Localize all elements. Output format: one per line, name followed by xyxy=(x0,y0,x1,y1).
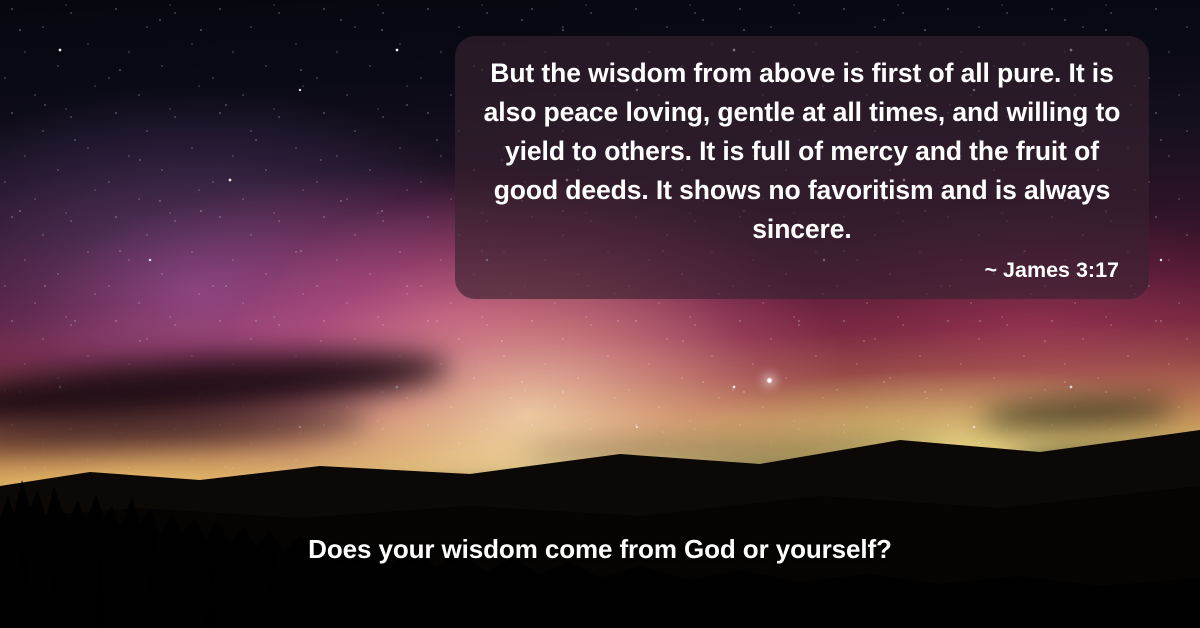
quote-text: But the wisdom from above is first of al… xyxy=(481,54,1123,249)
caption-text: Does your wisdom come from God or yourse… xyxy=(0,532,1200,566)
quote-attribution: ~ James 3:17 xyxy=(481,255,1119,285)
scripture-image-canvas: But the wisdom from above is first of al… xyxy=(0,0,1200,628)
horizon-treeline-silhouette xyxy=(0,368,1200,628)
quote-card: But the wisdom from above is first of al… xyxy=(455,36,1149,299)
